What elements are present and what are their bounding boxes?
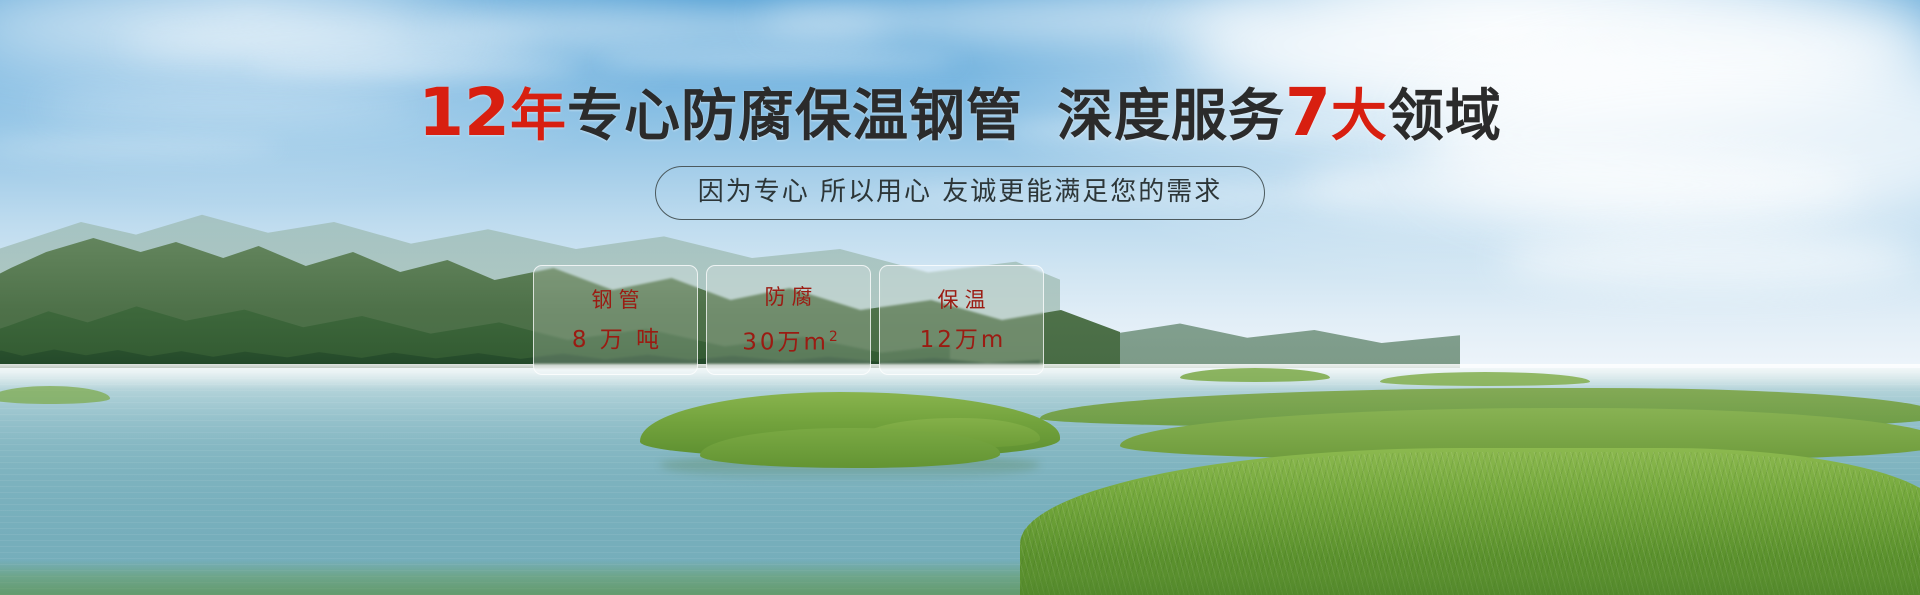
headline-text-tertiary: 领域 [1388, 84, 1502, 149]
stat-card-title: 防腐 [759, 284, 819, 310]
stat-card-anticorrosion: 防腐 30万m2 [706, 265, 871, 375]
stat-card-value: 8 万 吨 [569, 327, 662, 354]
hero-banner: 12年专心防腐保温钢管深度服务7大领域 因为专心 所以用心 友诚更能满足您的需求… [0, 0, 1920, 595]
stat-card-value: 12万m [917, 327, 1007, 354]
stat-card-value-text: 8 万 吨 [572, 327, 662, 353]
headline-unit-fields: 大 [1331, 84, 1388, 149]
subtitle-container: 因为专心 所以用心 友诚更能满足您的需求 [0, 166, 1920, 220]
stat-card-title: 钢管 [586, 287, 646, 313]
headline-text-primary: 专心防腐保温钢管 [567, 84, 1023, 149]
headline-number-fields: 7 [1285, 74, 1331, 151]
banner-content: 12年专心防腐保温钢管深度服务7大领域 因为专心 所以用心 友诚更能满足您的需求… [0, 0, 1920, 595]
headline-number-years: 12 [418, 74, 510, 151]
stat-card-value-text: 12万m [920, 327, 1007, 353]
headline-unit-years: 年 [510, 84, 567, 149]
stat-card-steel-pipe: 钢管 8 万 吨 [533, 265, 698, 375]
subtitle-pill: 因为专心 所以用心 友诚更能满足您的需求 [655, 166, 1266, 220]
stat-cards: 钢管 8 万 吨 防腐 30万m2 保温 12万m [533, 265, 1044, 375]
stat-card-value-text: 30万m [742, 329, 829, 355]
stat-card-insulation: 保温 12万m [879, 265, 1044, 375]
headline: 12年专心防腐保温钢管深度服务7大领域 [0, 82, 1920, 148]
headline-text-secondary: 深度服务 [1057, 84, 1285, 149]
stat-card-title: 保温 [932, 287, 992, 313]
stat-card-value-superscript: 2 [829, 329, 838, 345]
stat-card-value: 30万m2 [739, 324, 838, 357]
